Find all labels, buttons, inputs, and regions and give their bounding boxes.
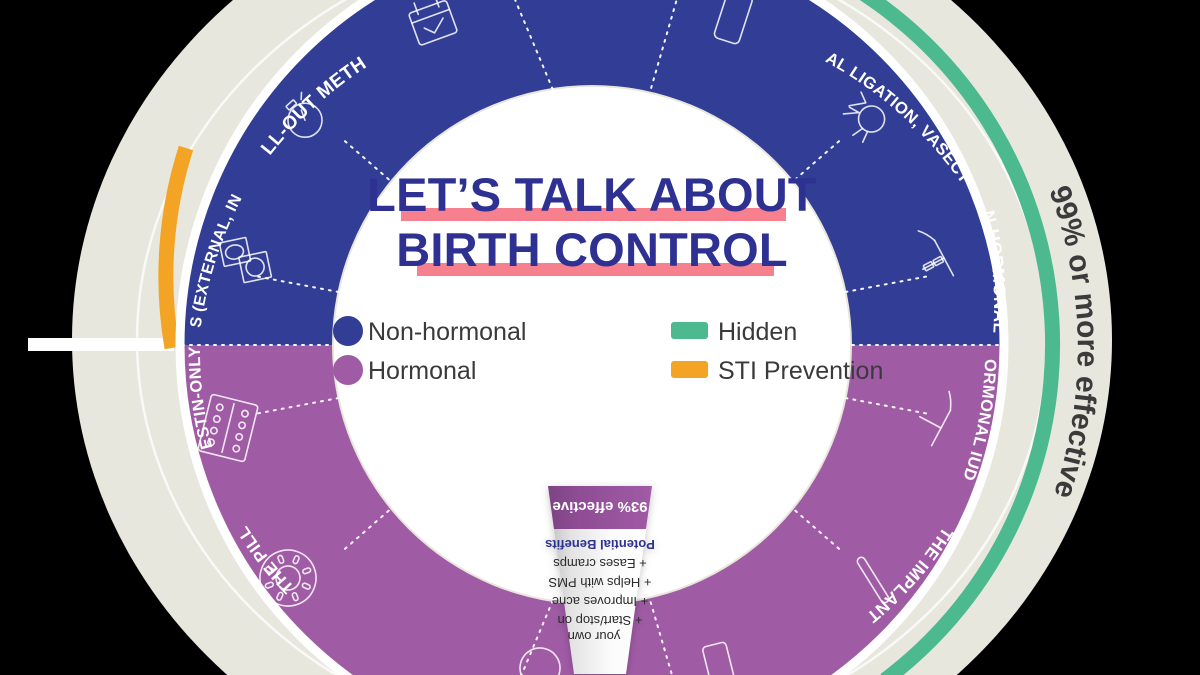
callout-benefit-item: your own — [568, 629, 621, 644]
legend-label: STI Prevention — [718, 357, 883, 385]
legend-swatch-circle — [333, 316, 363, 346]
title-line-2: BIRTH CONTROL — [396, 223, 788, 276]
callout-effectiveness-text: 93% effective — [552, 498, 647, 515]
legend-label: Hormonal — [368, 357, 476, 385]
left-notch-divider — [28, 338, 174, 351]
legend-item-hormonal: Hormonal — [333, 355, 476, 385]
callout-benefits-heading: Potential Benefits — [545, 537, 655, 552]
callout-benefit-item: + Helps with PMS — [548, 575, 651, 590]
legend-swatch-rect — [671, 322, 708, 339]
legend-label: Hidden — [718, 318, 797, 346]
legend-swatch-rect — [671, 361, 708, 378]
infographic-canvas: PULL-OUT METHOD CONDOMS (EXTERNAL, INTER… — [0, 0, 1200, 675]
callout-benefit-item: + Start/stop on — [558, 613, 643, 628]
title-line-1: LET’S TALK ABOUT — [367, 168, 817, 221]
callout-benefit-item: + Eases cramps — [553, 556, 647, 571]
callout-benefit-item: + Improves acne — [552, 594, 648, 609]
legend-label: Non-hormonal — [368, 318, 526, 346]
legend-swatch-circle — [333, 355, 363, 385]
